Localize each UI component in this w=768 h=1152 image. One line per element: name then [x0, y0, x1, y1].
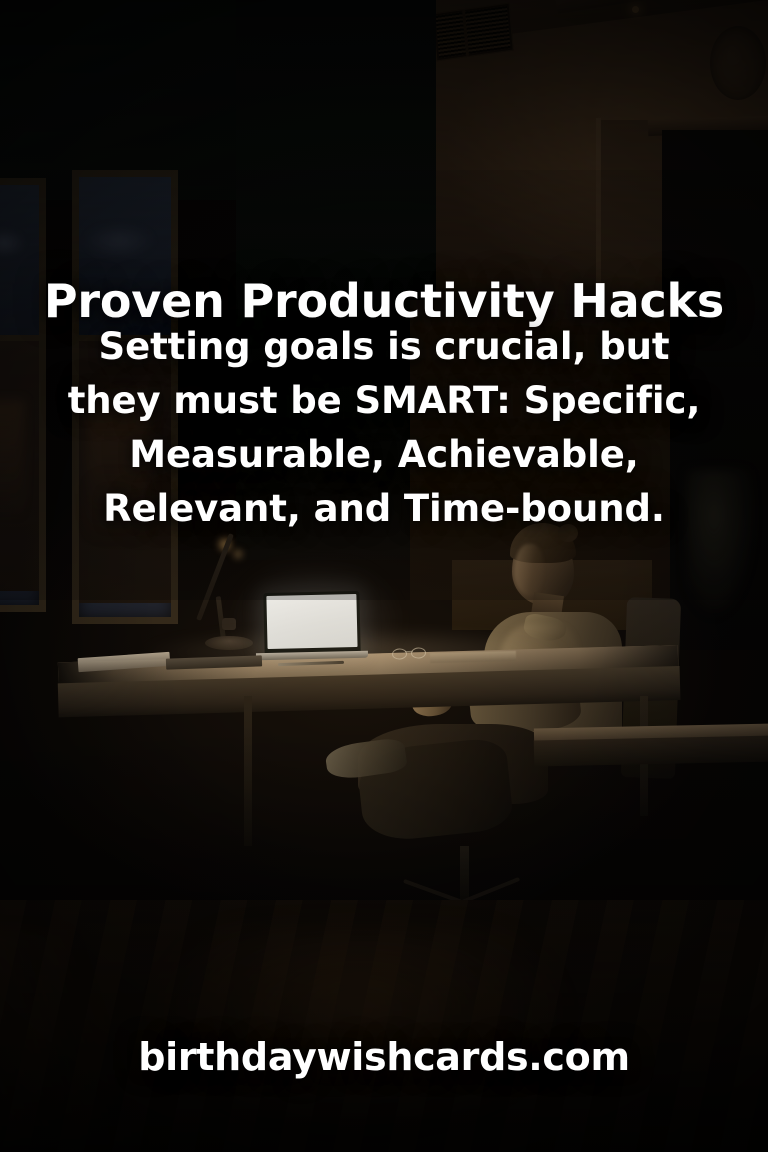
quote-line-3: Measurable, Achievable,	[64, 428, 704, 482]
window-city-glow	[0, 228, 26, 258]
window-warm-reflection	[0, 400, 24, 520]
eyeglasses-lens-right	[411, 647, 427, 659]
eyeglasses-lens-left	[392, 648, 408, 660]
beam-bulb-icon	[632, 6, 639, 13]
bokeh-light	[231, 547, 245, 561]
window-city-glow	[84, 224, 154, 258]
website-watermark[interactable]: birthdaywishcards.com	[0, 1035, 768, 1079]
quote-line-2: they must be SMART: Specific,	[64, 374, 704, 428]
quote-line-4: Relevant, and Time-bound.	[64, 482, 704, 536]
floor-light-pool	[150, 930, 570, 1130]
background-photo	[0, 0, 768, 1152]
quote-body: Setting goals is crucial, but they must …	[64, 320, 704, 536]
desk-leg	[244, 696, 252, 846]
laptop-screen	[266, 594, 357, 649]
vent-louvers	[436, 6, 511, 58]
wall-medallion	[710, 26, 766, 100]
eyeglasses	[392, 647, 426, 659]
quote-line-1: Setting goals is crucial, but	[64, 320, 704, 374]
person-face-highlight	[514, 544, 544, 596]
quote-card: Proven Productivity Hacks Setting goals …	[0, 0, 768, 1152]
desk-secondary-front	[534, 735, 768, 766]
page-title: Proven Productivity Hacks	[0, 278, 768, 324]
laptop	[263, 591, 360, 655]
